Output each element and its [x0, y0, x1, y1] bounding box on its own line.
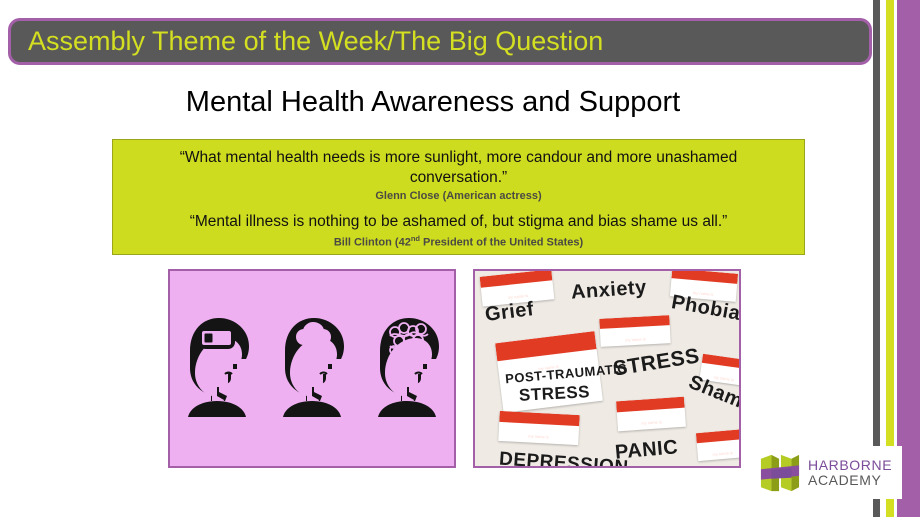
nametag-collage: Hellomy name is Hellomy name is Hellomy … [475, 271, 739, 466]
quote-2-attribution-ordinal: nd [411, 234, 420, 243]
decor-stripe-purple [897, 0, 920, 517]
slide-title-bar: Assembly Theme of the Week/The Big Quest… [8, 18, 872, 65]
quote-2-text: “Mental illness is nothing to be ashamed… [129, 212, 788, 232]
quote-1-attribution: Glenn Close (American actress) [129, 190, 788, 202]
logo-line-harborne: HARBORNE [808, 458, 892, 473]
nametag-badge: Hellomy name is [616, 397, 686, 432]
tangled-thoughts-head-icon [368, 305, 446, 413]
quote-box: “What mental health needs is more sunlig… [112, 139, 805, 255]
quote-1-text: “What mental health needs is more sunlig… [129, 148, 788, 188]
decor-stripe-gray [873, 0, 880, 517]
rain-cloud-head-icon [273, 305, 351, 413]
nametag-word: STRESS [519, 382, 591, 406]
quote-1-attribution-prefix: Glenn Close (American actress) [375, 190, 541, 202]
quote-2-attribution-suffix: President of the United States) [420, 237, 583, 249]
low-battery-head-icon [178, 305, 256, 413]
quote-2-attribution: Bill Clinton (42nd President of the Unit… [129, 234, 788, 249]
nametag-word: Anxiety [570, 276, 647, 304]
nametag-word: Grief [484, 298, 536, 327]
nametag-badge: Hellomy name is [498, 411, 579, 445]
harborne-academy-logo: HARBORNE ACADEMY [753, 446, 902, 499]
image-three-heads [168, 269, 456, 468]
nametag-badge: Hellomy name is [696, 429, 741, 461]
slide-title: Assembly Theme of the Week/The Big Quest… [11, 26, 603, 57]
logo-line-academy: ACADEMY [808, 473, 892, 488]
image-name-tags: Hellomy name is Hellomy name is Hellomy … [473, 269, 741, 468]
quote-2-attribution-prefix: Bill Clinton (42 [334, 237, 411, 249]
heads-row [170, 305, 454, 413]
nametag-word: STRESS [612, 344, 702, 381]
harborne-h-monogram-icon [759, 453, 801, 493]
decor-stripe-green [886, 0, 894, 517]
nametag-word: DEPRESSION [498, 449, 629, 468]
logo-wordmark: HARBORNE ACADEMY [808, 458, 892, 488]
nametag-badge: Hellomy name is [599, 315, 670, 347]
page-title: Mental Health Awareness and Support [0, 86, 866, 119]
